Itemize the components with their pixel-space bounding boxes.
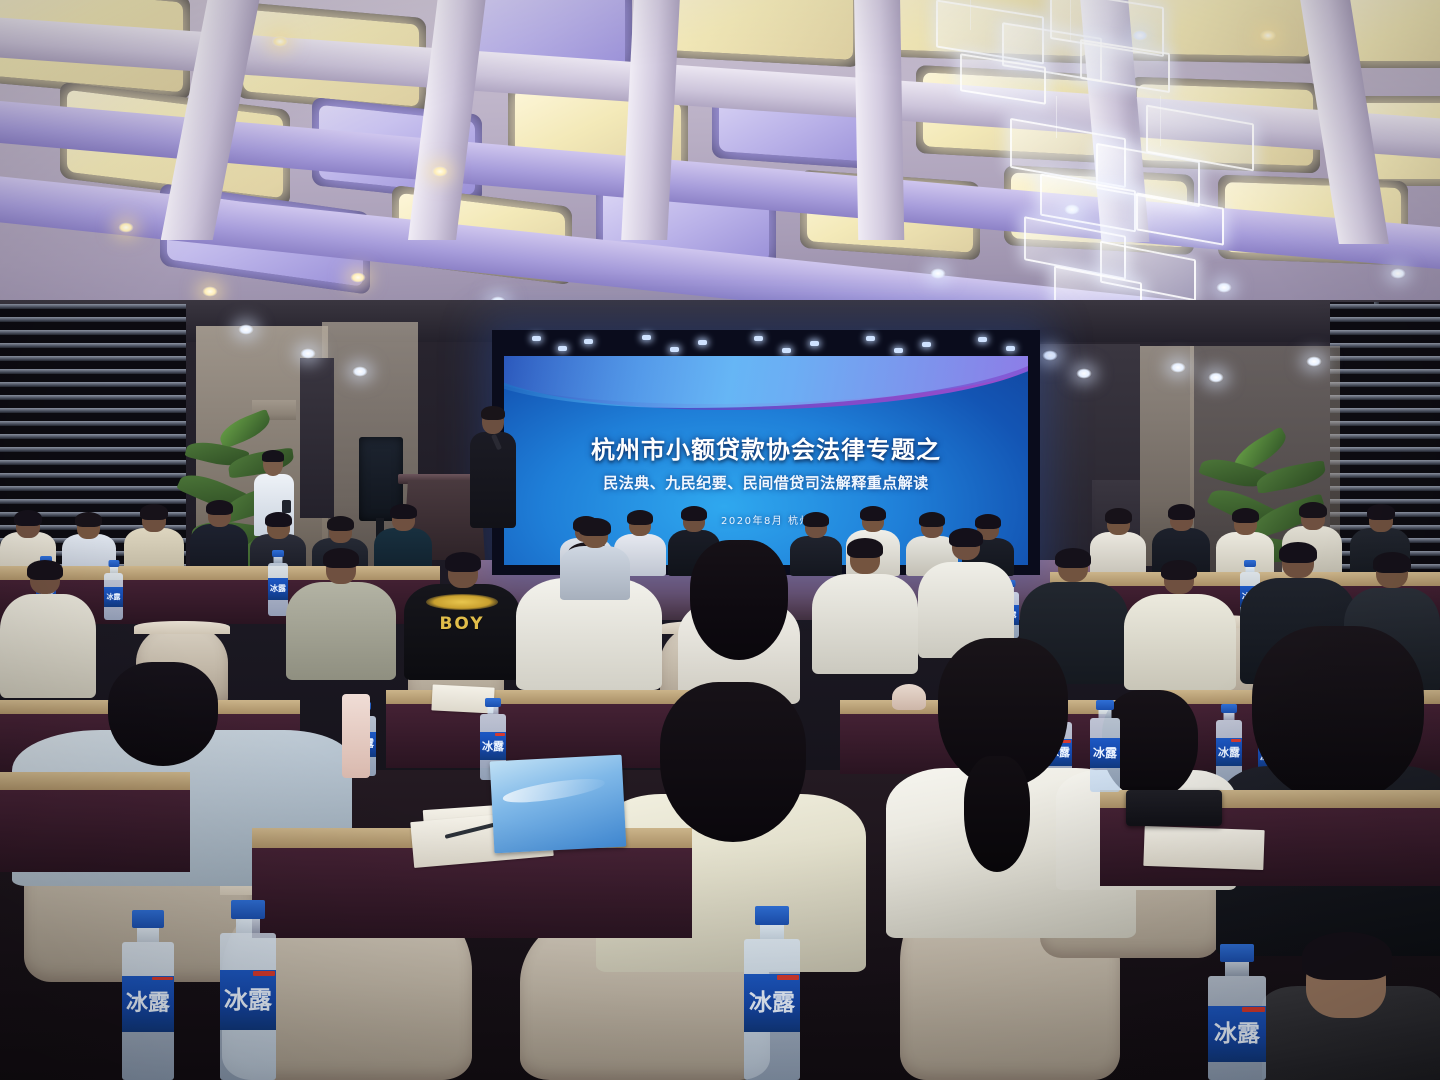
handbag (1126, 790, 1222, 826)
seated-attendee (1262, 946, 1440, 1080)
bottle-brand: 冰露 (270, 585, 286, 593)
notepaper (1143, 826, 1264, 870)
bottle-brand: 冰露 (749, 992, 795, 1015)
water-bottle: 冰露 (268, 550, 288, 616)
thermos-flask (342, 694, 370, 778)
seated-attendee (674, 534, 804, 704)
water-bottle: 冰露 (1090, 700, 1120, 792)
bottle-brand: 冰露 (1214, 1023, 1260, 1046)
water-bottle: 冰露 (220, 900, 276, 1080)
water-bottle: 冰露 (122, 910, 174, 1080)
water-bottle: 冰露 (1208, 944, 1266, 1080)
conference-table (0, 772, 190, 872)
conference-booklet (490, 755, 627, 854)
bottle-brand: 冰露 (1093, 747, 1117, 759)
seated-attendee (286, 552, 396, 680)
jacket-brand-text: BOY (404, 614, 520, 634)
seated-attendee (124, 502, 184, 576)
audience-area: 冰露 冰露 冰露 冰露 冰露 (0, 0, 1440, 1080)
seated-attendee (190, 498, 248, 576)
bottle-brand: 冰露 (482, 741, 504, 752)
seated-attendee (560, 516, 630, 600)
bottle-brand: 冰露 (224, 988, 272, 1012)
gold-eagle-emblem (426, 594, 498, 610)
boy-london-jacket: BOY (404, 584, 520, 680)
conference-hall-photo: 杭州市小额贷款协会法律专题之 民法典、九民纪要、民间借贷司法解释重点解读 202… (0, 0, 1440, 1080)
water-bottle: 冰露 (104, 560, 123, 620)
bottle-brand: 冰露 (107, 594, 121, 601)
seated-attendee-boy-jacket: BOY (404, 556, 520, 680)
water-bottle: 冰露 (744, 906, 800, 1080)
bottle-brand: 冰露 (126, 993, 170, 1015)
